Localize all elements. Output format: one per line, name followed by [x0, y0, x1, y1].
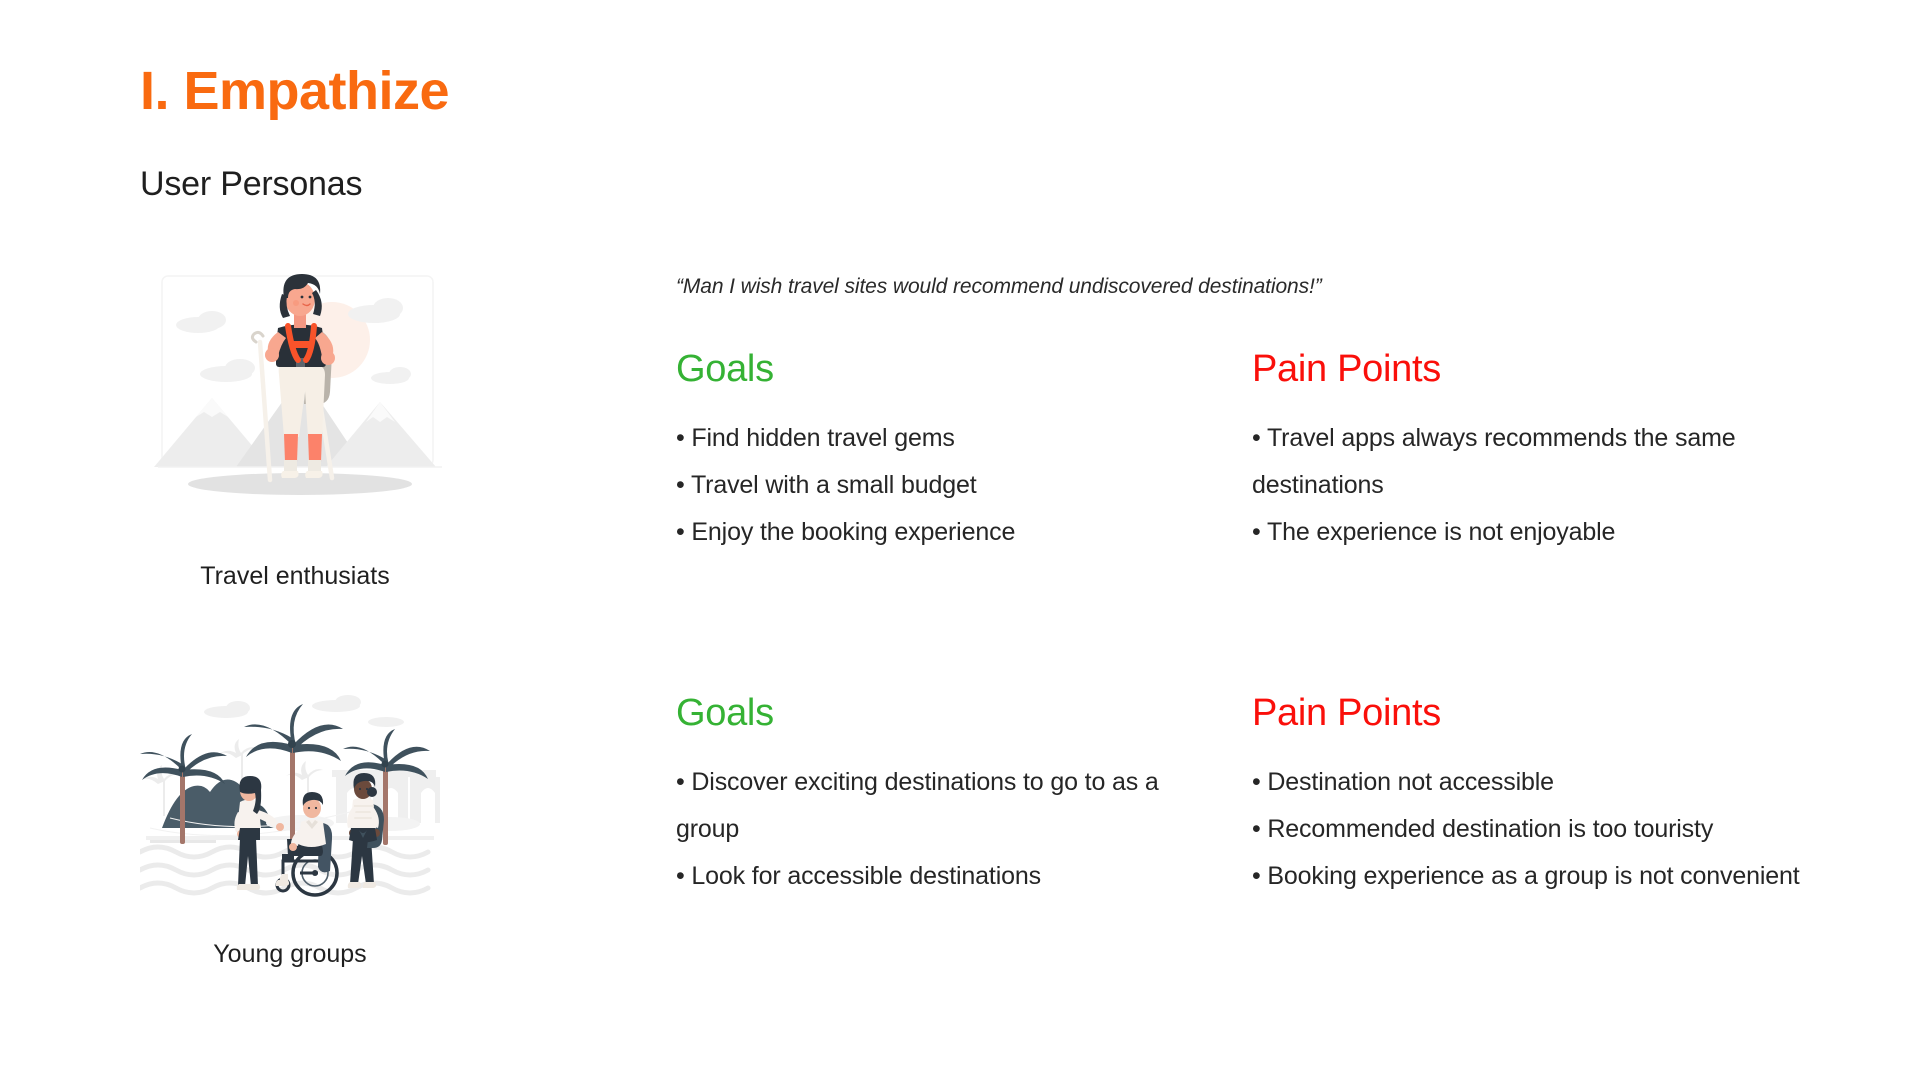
goals-heading: Goals: [676, 692, 1196, 735]
page-subtitle: User Personas: [140, 165, 362, 204]
persona-label: Young groups: [120, 940, 460, 969]
pain-points-list: • Destination not accessible • Recommend…: [1252, 759, 1892, 900]
list-item: • Discover exciting destinations to go t…: [676, 759, 1196, 853]
pain-points-heading: Pain Points: [1252, 692, 1892, 735]
persona-label: Travel enthusiats: [125, 562, 465, 591]
pain-points-heading: Pain Points: [1252, 348, 1872, 391]
pain-points-list: • Travel apps always recommends the same…: [1252, 415, 1872, 556]
goals-list: • Find hidden travel gems • Travel with …: [676, 415, 1196, 556]
list-item: • Travel with a small budget: [676, 462, 1196, 509]
beach-group-illustration: [140, 688, 440, 938]
list-item: • The experience is not enjoyable: [1252, 509, 1872, 556]
list-item: • Booking experience as a group is not c…: [1252, 853, 1892, 900]
list-item: • Find hidden travel gems: [676, 415, 1196, 462]
persona-2-goals-column: Goals • Discover exciting destinations t…: [676, 692, 1196, 900]
persona-1-goals-column: Goals • Find hidden travel gems • Travel…: [676, 348, 1196, 556]
persona-1-pain-points-column: Pain Points • Travel apps always recomme…: [1252, 348, 1872, 556]
list-item: • Travel apps always recommends the same…: [1252, 415, 1872, 509]
persona-quote: “Man I wish travel sites would recommend…: [676, 275, 1322, 299]
page-title: I. Empathize: [140, 60, 449, 122]
list-item: • Recommended destination is too tourist…: [1252, 806, 1892, 853]
list-item: • Enjoy the booking experience: [676, 509, 1196, 556]
persona-2-pain-points-column: Pain Points • Destination not accessible…: [1252, 692, 1892, 900]
slide-empathize-user-personas: I. Empathize User Personas “Man I wish t…: [0, 0, 1920, 1080]
list-item: • Look for accessible destinations: [676, 853, 1196, 900]
list-item: • Destination not accessible: [1252, 759, 1892, 806]
goals-list: • Discover exciting destinations to go t…: [676, 759, 1196, 900]
hiker-illustration: [150, 262, 450, 512]
goals-heading: Goals: [676, 348, 1196, 391]
